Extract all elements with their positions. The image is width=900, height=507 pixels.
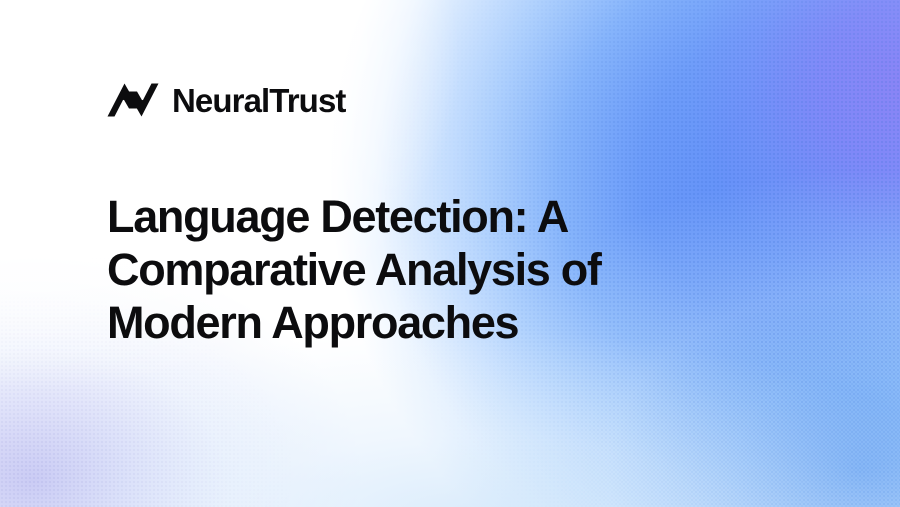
brand-name: NeuralTrust — [172, 84, 346, 117]
page-title-line-3: Modern Approaches — [107, 296, 747, 349]
hero-banner: NeuralTrust Language Detection: A Compar… — [0, 0, 900, 507]
neuraltrust-logo-mark — [107, 83, 159, 117]
banner-content: NeuralTrust Language Detection: A Compar… — [0, 0, 900, 507]
page-title-line-2: Comparative Analysis of — [107, 243, 747, 296]
brand-lockup: NeuralTrust — [107, 78, 346, 122]
page-title: Language Detection: A Comparative Analys… — [107, 190, 747, 349]
page-title-line-1: Language Detection: A — [107, 190, 747, 243]
